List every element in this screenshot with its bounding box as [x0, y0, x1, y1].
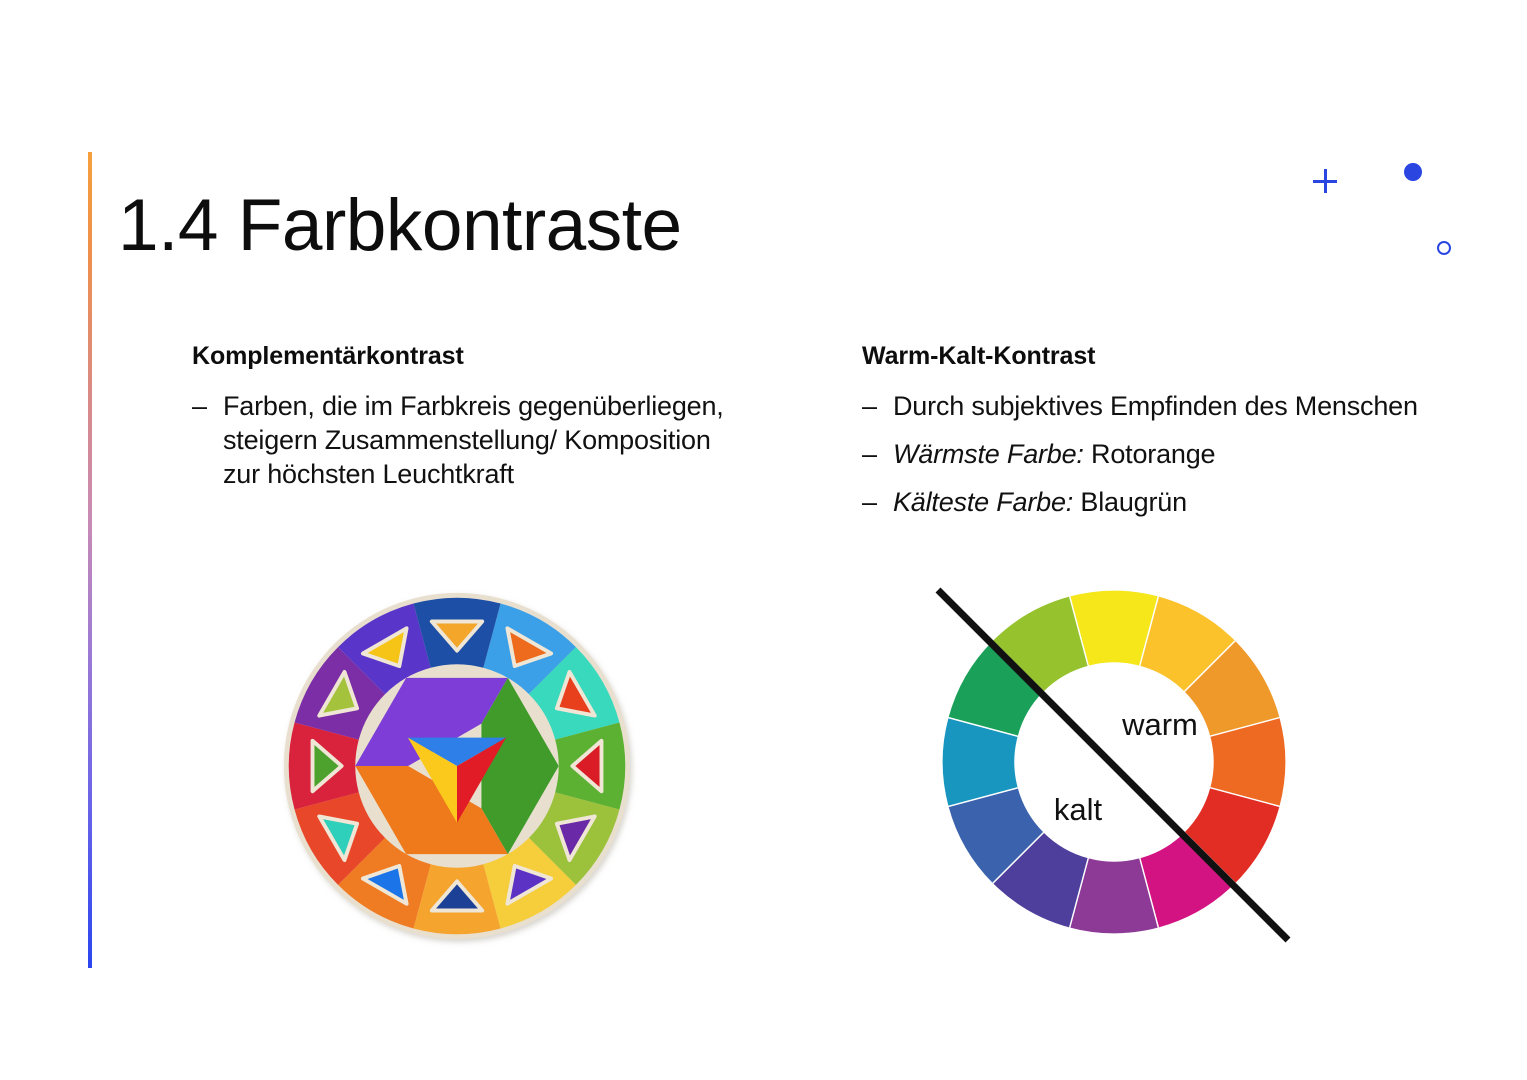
slide-canvas: 1.4 Farbkontraste Komplementärkontrast –…	[0, 0, 1527, 1080]
list-item: – Wärmste Farbe: Rotorange	[862, 437, 1422, 471]
bullet-emphasis: Wärmste Farbe:	[893, 439, 1084, 469]
bullet-text: Farben, die im Farbkreis gegenüberliegen…	[223, 391, 724, 489]
left-column-heading: Komplementärkontrast	[192, 342, 752, 371]
warm-cold-wheel-svg: warm kalt	[916, 562, 1316, 962]
right-bullet-list: – Durch subjektives Empfinden des Mensch…	[862, 389, 1422, 519]
accent-bar	[88, 152, 92, 968]
column-warm-kalt-kontrast: Warm-Kalt-Kontrast – Durch subjektives E…	[862, 342, 1422, 533]
page-title: 1.4 Farbkontraste	[118, 189, 682, 262]
kalt-label: kalt	[1054, 792, 1103, 827]
bullet-dash: –	[192, 389, 207, 423]
warm-label: warm	[1121, 707, 1198, 742]
column-komplementaerkontrast: Komplementärkontrast – Farben, die im Fa…	[192, 342, 752, 505]
warm-cold-wheel-figure: warm kalt	[916, 562, 1316, 962]
itten-color-wheel-svg	[281, 586, 633, 946]
dot-mark-icon	[1404, 163, 1422, 181]
list-item: – Durch subjektives Empfinden des Mensch…	[862, 389, 1422, 423]
bullet-dash: –	[862, 485, 877, 519]
plus-mark-icon	[1313, 169, 1337, 193]
right-column-heading: Warm-Kalt-Kontrast	[862, 342, 1422, 371]
bullet-text: Blaugrün	[1073, 487, 1187, 517]
list-item: – Farben, die im Farbkreis gegenüberlieg…	[192, 389, 752, 491]
bullet-dash: –	[862, 437, 877, 471]
itten-color-wheel-figure	[281, 586, 633, 946]
circle-mark-icon	[1437, 241, 1451, 255]
bullet-text: Rotorange	[1084, 439, 1216, 469]
list-item: – Kälteste Farbe: Blaugrün	[862, 485, 1422, 519]
bullet-emphasis: Kälteste Farbe:	[893, 487, 1073, 517]
left-bullet-list: – Farben, die im Farbkreis gegenüberlieg…	[192, 389, 752, 491]
bullet-dash: –	[862, 389, 877, 423]
bullet-text: Durch subjektives Empfinden des Menschen	[893, 391, 1418, 421]
wheel-body	[284, 593, 630, 939]
